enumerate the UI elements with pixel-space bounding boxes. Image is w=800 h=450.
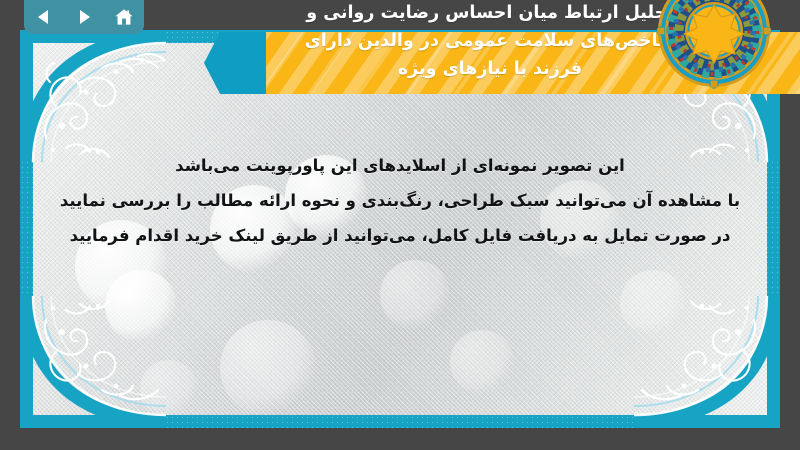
triangle-left-icon: [35, 8, 53, 26]
slide-body-text: این تصویر نمونه‌ای از اسلایدهای این پاور…: [20, 148, 780, 253]
body-line: با مشاهده آن می‌توانید سبک طراحی، رنگ‌بن…: [50, 183, 750, 218]
slide-navigation-bar: [24, 0, 144, 34]
slide-canvas: این تصویر نمونه‌ای از اسلایدهای این پاور…: [20, 30, 780, 428]
previous-slide-button[interactable]: [29, 4, 59, 30]
home-icon: [114, 8, 134, 27]
title-line: تحلیل ارتباط میان احساس رضایت روانی و: [180, 0, 800, 27]
next-slide-button[interactable]: [69, 4, 99, 30]
home-button[interactable]: [109, 4, 139, 30]
body-line: این تصویر نمونه‌ای از اسلایدهای این پاور…: [50, 148, 750, 183]
presentation-viewer: این تصویر نمونه‌ای از اسلایدهای این پاور…: [0, 0, 800, 450]
triangle-right-icon: [75, 8, 93, 26]
body-line: در صورت تمایل به دریافت فایل کامل، می‌تو…: [50, 218, 750, 253]
